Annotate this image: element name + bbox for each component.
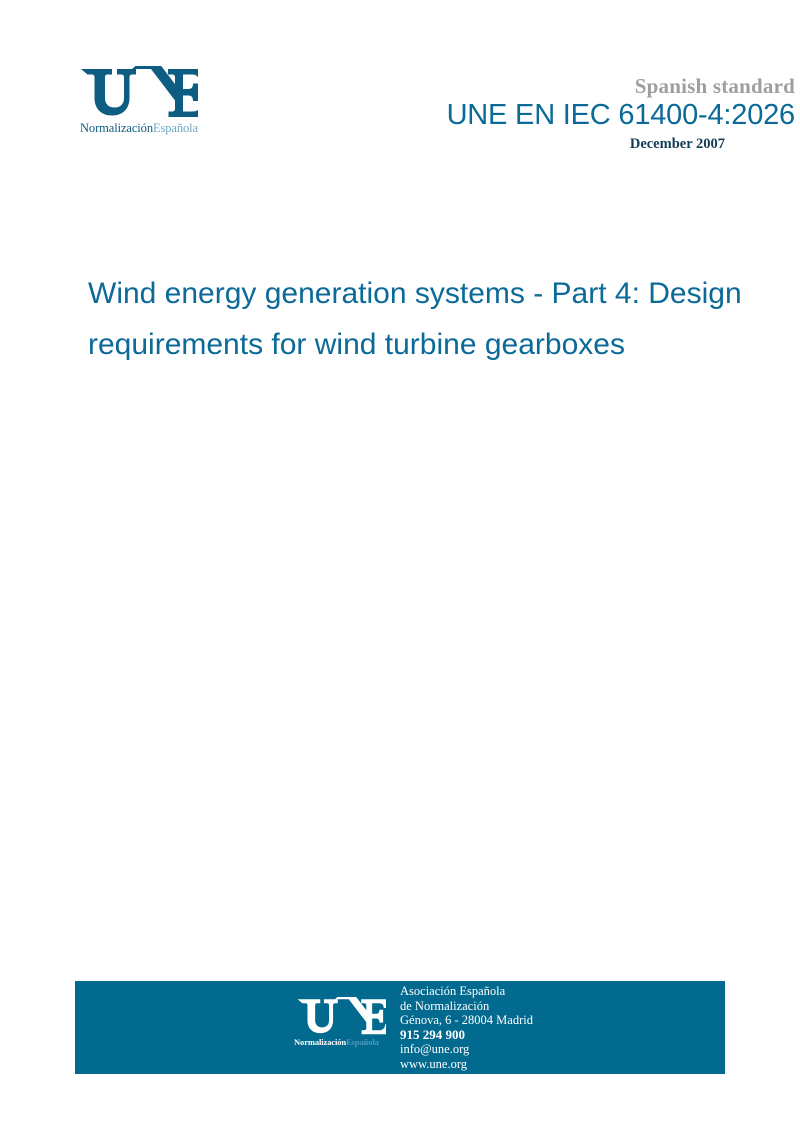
publication-date: December 2007 <box>375 135 795 154</box>
footer-email[interactable]: info@une.org <box>400 1042 533 1057</box>
standard-identification: Spanish standard UNE EN IEC 61400-4:2026… <box>375 74 795 154</box>
footer-logo-tagline-secondary: Española <box>346 1037 379 1047</box>
une-wordmark-icon <box>80 66 198 118</box>
standard-reference: UNE EN IEC 61400-4:2026 <box>375 98 795 132</box>
page-title: Wind energy generation systems - Part 4:… <box>88 268 800 370</box>
logo-tagline-primary: Normalización <box>80 121 153 135</box>
footer-logo-tagline: NormalizaciónEspañola <box>294 1037 404 1047</box>
logo-tagline-secondary: Española <box>153 121 198 135</box>
footer-address: Génova, 6 - 28004 Madrid <box>400 1013 533 1028</box>
header-logo: NormalizaciónEspañola <box>80 66 280 136</box>
footer-organization-line-1: Asociación Española <box>400 984 533 999</box>
logo-tagline: NormalizaciónEspañola <box>80 121 280 136</box>
footer-organization-line-2: de Normalización <box>400 999 533 1014</box>
une-wordmark-icon <box>294 997 386 1035</box>
footer-band: NormalizaciónEspañola Asociación Español… <box>75 981 725 1074</box>
footer-phone: 915 294 900 <box>400 1028 533 1043</box>
page-title-line-1: Wind energy generation systems - Part 4:… <box>88 268 800 319</box>
footer-logo: NormalizaciónEspañola <box>294 997 404 1047</box>
standard-kind-label: Spanish standard <box>375 74 795 98</box>
footer-contact-block: Asociación Española de Normalización Gén… <box>400 984 533 1072</box>
footer-logo-tagline-primary: Normalización <box>294 1037 346 1047</box>
footer-website[interactable]: www.une.org <box>400 1057 533 1072</box>
page-title-line-2: requirements for wind turbine gearboxes <box>88 319 800 370</box>
